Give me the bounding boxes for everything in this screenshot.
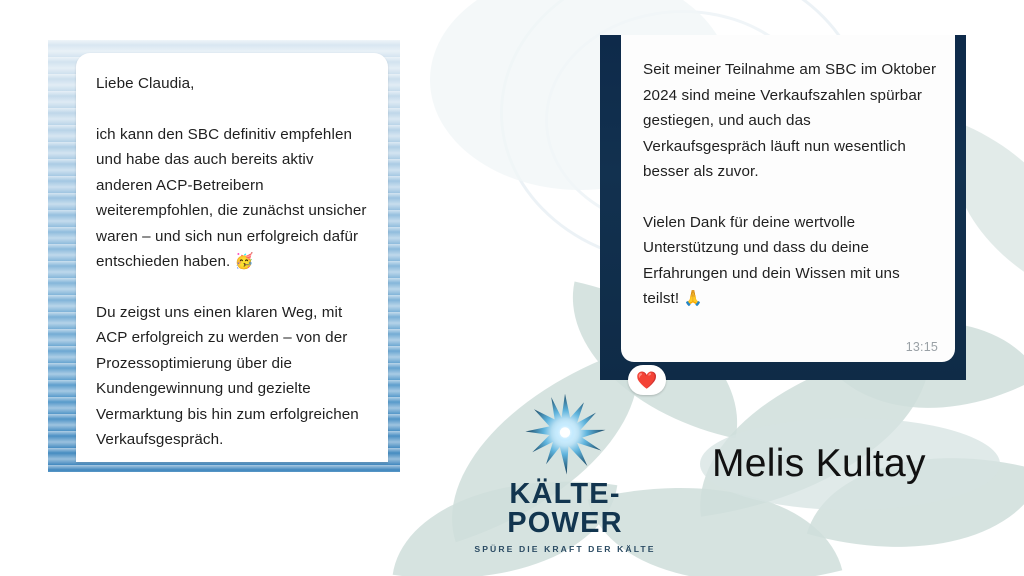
right-chat-screenshot: Seit meiner Teilnahme am SBC im Oktober … [600,35,966,380]
left-chat-screenshot: Liebe Claudia, ich kann den SBC definiti… [48,40,400,472]
ice-burst-star-icon [515,392,615,478]
logo-wordmark: KÄLTE-POWER [452,480,678,538]
person-name: Melis Kultay [712,444,926,483]
right-message-bubble[interactable]: Seit meiner Teilnahme am SBC im Oktober … [621,35,955,362]
right-message-paragraph-1: Seit meiner Teilnahme am SBC im Oktober … [643,57,937,185]
left-message-paragraph-3: Du zeigst uns einen klaren Weg, mit ACP … [96,300,372,453]
heart-reaction-icon[interactable]: ❤️ [628,365,666,395]
left-message-paragraph-2: ich kann den SBC definitiv empfehlen und… [96,122,372,275]
left-message-paragraph-1: Liebe Claudia, [96,71,372,97]
left-message-bubble[interactable]: Liebe Claudia, ich kann den SBC definiti… [76,53,388,462]
heart-reaction-emoji: ❤️ [636,372,657,389]
leaf-shape-7 [807,413,1024,576]
logo-tagline: SPÜRE DIE KRAFT DER KÄLTE [452,544,678,554]
right-message-paragraph-2: Vielen Dank für deine wertvolle Unterstü… [643,210,937,312]
testimonial-slide: Liebe Claudia, ich kann den SBC definiti… [0,0,1024,576]
message-timestamp: 13:15 [906,340,938,354]
brand-logo: KÄLTE-POWER SPÜRE DIE KRAFT DER KÄLTE [452,392,678,554]
